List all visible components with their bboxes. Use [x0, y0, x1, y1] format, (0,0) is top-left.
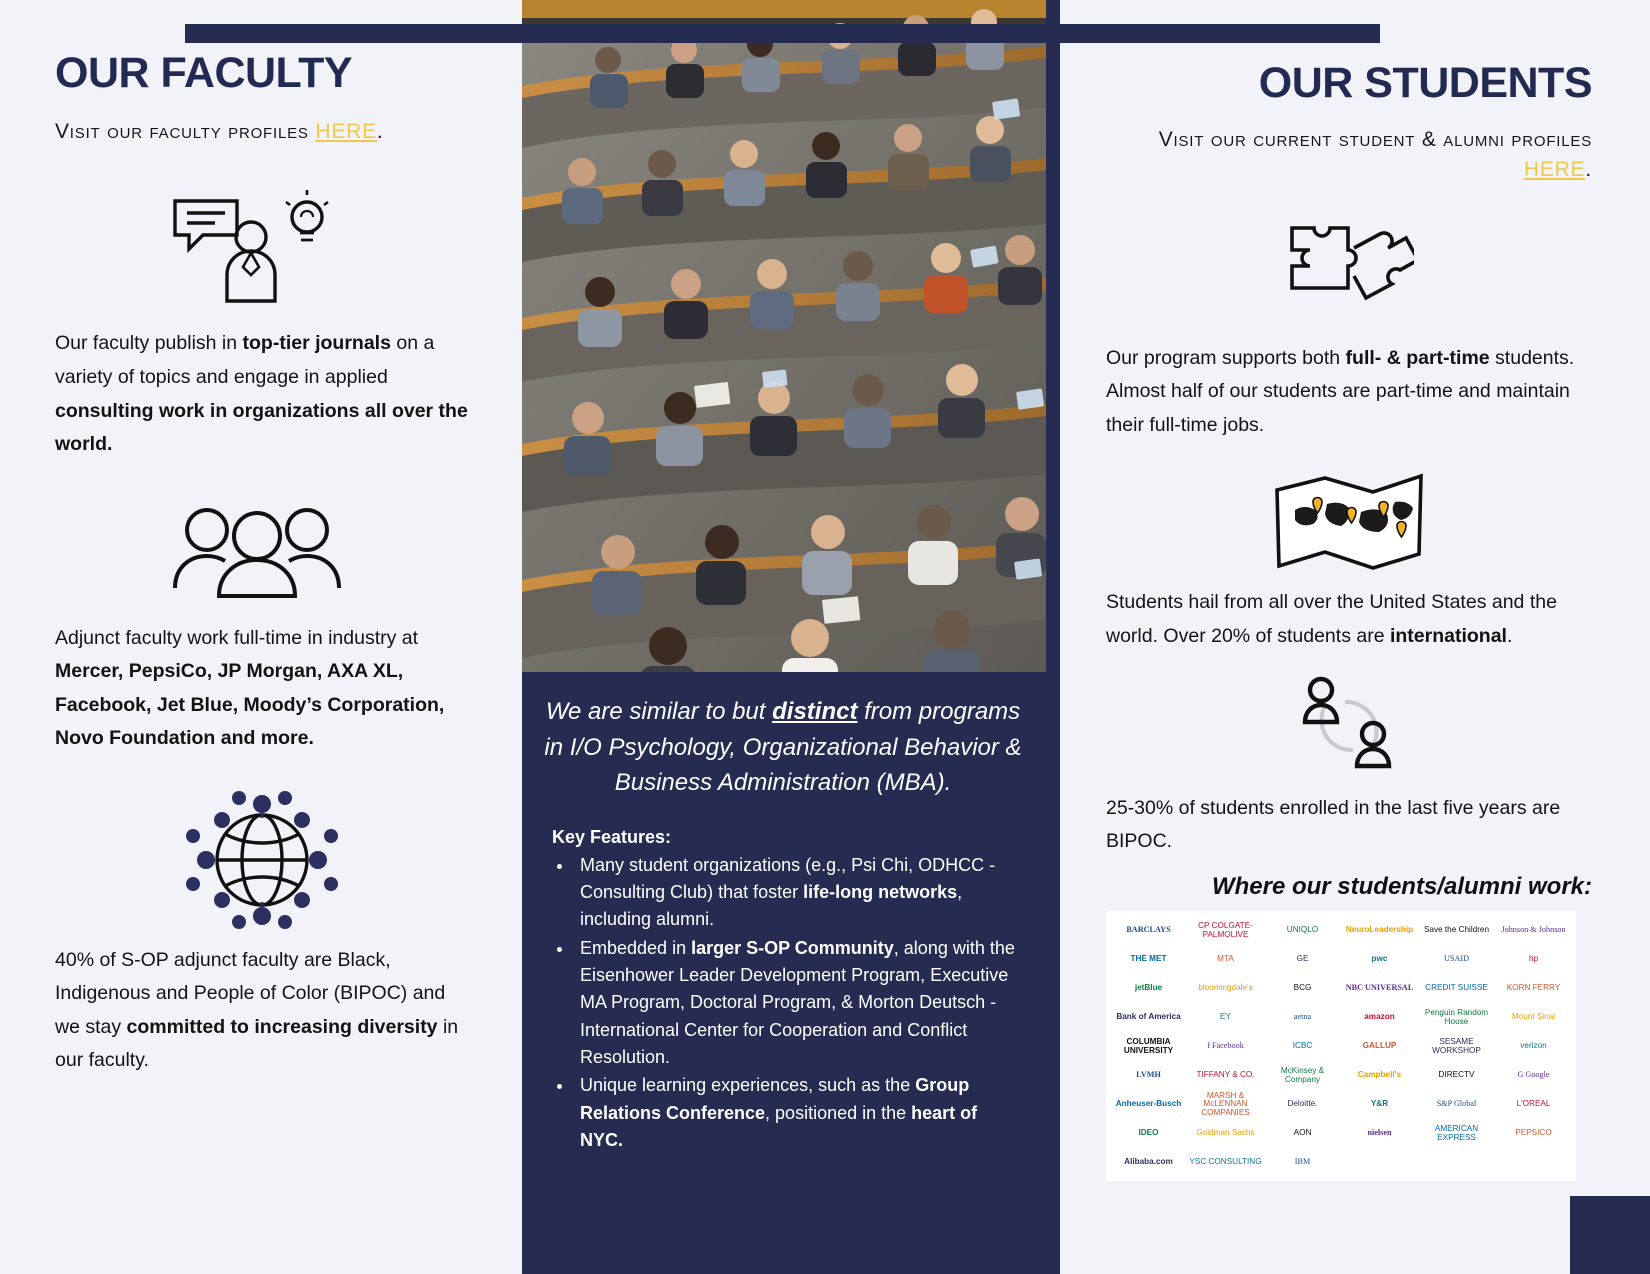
text-run-bold: consulting work in organizations all ove… — [55, 400, 468, 456]
employer-logo: Bank of America — [1111, 1005, 1186, 1031]
employer-logo: AON — [1265, 1121, 1340, 1147]
page-title-faculty: OUR FACULTY — [55, 52, 470, 95]
employer-logo: CREDIT SUISSE — [1419, 976, 1494, 1002]
employer-logo: Johnson & Johnson — [1496, 918, 1571, 944]
students-subtitle: Visit our current student & alumni profi… — [1106, 125, 1592, 186]
bullet-run-bold: life-long networks — [803, 882, 957, 902]
employer-logo: DIRECTV — [1419, 1063, 1494, 1089]
bottom-right-navy-block — [1570, 1196, 1650, 1274]
adjunct-faculty-paragraph: Adjunct faculty work full-time in indust… — [55, 622, 470, 756]
where-students-work-heading: Where our students/alumni work: — [1106, 873, 1592, 901]
employer-logo: USAID — [1419, 947, 1494, 973]
list-item: Unique learning experiences, such as the… — [574, 1072, 1022, 1154]
employer-logo: NBC UNIVERSAL — [1342, 976, 1417, 1002]
employer-logo: pwc — [1342, 947, 1417, 973]
employer-logo: EY — [1188, 1005, 1263, 1031]
international-students-paragraph: Students hail from all over the United S… — [1106, 586, 1592, 653]
left-column-our-faculty: OUR FACULTY Visit our faculty profiles H… — [0, 0, 522, 1274]
employer-logo: THE MET — [1111, 947, 1186, 973]
speech-bubble-person-lightbulb-icon — [55, 189, 470, 309]
employer-logo: GALLUP — [1342, 1034, 1417, 1060]
employer-logo: IBM — [1265, 1150, 1340, 1176]
employer-logo: jetBlue — [1111, 976, 1186, 1002]
faculty-publish-paragraph: Our faculty publish in top-tier journals… — [55, 327, 470, 461]
employer-logo: McKinsey & Company — [1265, 1063, 1340, 1089]
employer-logo: Anheuser-Busch — [1111, 1092, 1186, 1118]
employer-logo: ICBC — [1265, 1034, 1340, 1060]
employer-logo: COLUMBIA UNIVERSITY — [1111, 1034, 1186, 1060]
two-person-diversity-icon — [1106, 672, 1592, 780]
employer-logo: Y&R — [1342, 1092, 1417, 1118]
employer-logo: Mount Sinai — [1496, 1005, 1571, 1031]
text-run-bold: international — [1390, 625, 1507, 647]
employer-logo: Penguin Random House — [1419, 1005, 1494, 1031]
employer-logo: MARSH & McLENNAN COMPANIES — [1188, 1092, 1263, 1118]
list-item: Many student organizations (e.g., Psi Ch… — [574, 852, 1022, 934]
text-run: . — [1507, 625, 1512, 647]
key-features-label: Key Features: — [552, 827, 1022, 848]
employer-logo: SESAME WORKSHOP — [1419, 1034, 1494, 1060]
employer-logo: bloomingdale's — [1188, 976, 1263, 1002]
subtitle-period: . — [1585, 158, 1592, 181]
faculty-subtitle: Visit our faculty profiles HERE. — [55, 117, 470, 147]
bullet-run-bold: larger S-OP Community — [691, 938, 894, 958]
employer-logo: GE — [1265, 947, 1340, 973]
list-item: Embedded in larger S-OP Community, along… — [574, 935, 1022, 1072]
subtitle-text: Visit our current student & alumni profi… — [1159, 128, 1592, 151]
text-run: Our program supports both — [1106, 347, 1346, 369]
right-column-our-students: OUR STUDENTS Visit our current student &… — [1046, 0, 1650, 1274]
bullet-run: , positioned in the — [765, 1103, 911, 1123]
employer-logo: BCG — [1265, 976, 1340, 1002]
employer-logo: LVMH — [1111, 1063, 1186, 1089]
right-column-divider — [1046, 0, 1060, 1274]
employer-logo: CP COLGATE-PALMOLIVE — [1188, 918, 1263, 944]
bullet-run: Embedded in — [580, 938, 691, 958]
text-run: Adjunct faculty work full-time in indust… — [55, 627, 418, 649]
employer-logo: Deloitte. — [1265, 1092, 1340, 1118]
text-run-bold: Mercer, PepsiCo, JP Morgan, AXA XL, Face… — [55, 660, 444, 749]
faculty-profiles-link[interactable]: HERE — [315, 120, 377, 143]
employer-logo: Campbell's — [1342, 1063, 1417, 1089]
employer-logo: IDEO — [1111, 1121, 1186, 1147]
center-column: We are similar to but distinct from prog… — [522, 0, 1046, 1274]
employer-logo: KORN FERRY — [1496, 976, 1571, 1002]
world-map-pins-icon — [1106, 468, 1592, 572]
employer-logo: YSC CONSULTING — [1188, 1150, 1263, 1176]
employer-logo: aetna — [1265, 1005, 1340, 1031]
subtitle-period: . — [377, 120, 384, 143]
employer-logo: UNIQLO — [1265, 918, 1340, 944]
text-run-bold: top-tier journals — [243, 332, 391, 354]
employer-logo: L'OREAL — [1496, 1092, 1571, 1118]
brochure-page: We are similar to but distinct from prog… — [0, 0, 1650, 1274]
fulltime-parttime-paragraph: Our program supports both full- & part-t… — [1106, 342, 1592, 443]
text-run-bold: committed to increasing diversity — [127, 1016, 438, 1038]
distinct-callout: We are similar to but distinct from prog… — [544, 694, 1022, 801]
top-navy-rule — [185, 24, 1380, 43]
globe-network-icon — [55, 790, 470, 930]
key-features-list: Many student organizations (e.g., Psi Ch… — [574, 852, 1022, 1155]
employer-logo: f Facebook — [1188, 1034, 1263, 1060]
employer-logo: Goldman Sachs — [1188, 1121, 1263, 1147]
bipoc-students-paragraph: 25-30% of students enrolled in the last … — [1106, 792, 1592, 859]
callout-run-1: distinct — [772, 698, 857, 725]
employer-logo: MTA — [1188, 947, 1263, 973]
employer-logo: BARCLAYS — [1111, 918, 1186, 944]
bullet-run: Unique learning experiences, such as the — [580, 1075, 915, 1095]
text-run: 25-30% of students enrolled in the last … — [1106, 797, 1560, 853]
student-profiles-link[interactable]: HERE — [1524, 158, 1586, 181]
lecture-hall-photo — [522, 0, 1046, 672]
text-run-bold: full- & part-time — [1346, 347, 1490, 369]
faculty-diversity-paragraph: 40% of S-OP adjunct faculty are Black, I… — [55, 944, 470, 1078]
employer-logo-grid: BARCLAYSCP COLGATE-PALMOLIVEUNIQLONeuroL… — [1106, 911, 1576, 1181]
employer-logo: amazon — [1342, 1005, 1417, 1031]
employer-logo: Save the Children — [1419, 918, 1494, 944]
three-people-group-icon — [55, 502, 470, 602]
callout-run-0: We are similar to but — [546, 698, 772, 725]
center-callout-panel: We are similar to but distinct from prog… — [522, 672, 1046, 1155]
page-title-students: OUR STUDENTS — [1106, 62, 1592, 105]
employer-logo: AMERICAN EXPRESS — [1419, 1121, 1494, 1147]
employer-logo: PEPSICO — [1496, 1121, 1571, 1147]
employer-logo: TIFFANY & CO. — [1188, 1063, 1263, 1089]
puzzle-pieces-icon — [1106, 220, 1592, 326]
employer-logo: verizon — [1496, 1034, 1571, 1060]
employer-logo: NeuroLeadership — [1342, 918, 1417, 944]
text-run: Our faculty publish in — [55, 332, 243, 354]
employer-logo: hp — [1496, 947, 1571, 973]
employer-logo: Alibaba.com — [1111, 1150, 1186, 1176]
employer-logo: G Google — [1496, 1063, 1571, 1089]
subtitle-text: Visit our faculty profiles — [55, 120, 315, 143]
employer-logo: nielsen — [1342, 1121, 1417, 1147]
employer-logo: S&P Global — [1419, 1092, 1494, 1118]
